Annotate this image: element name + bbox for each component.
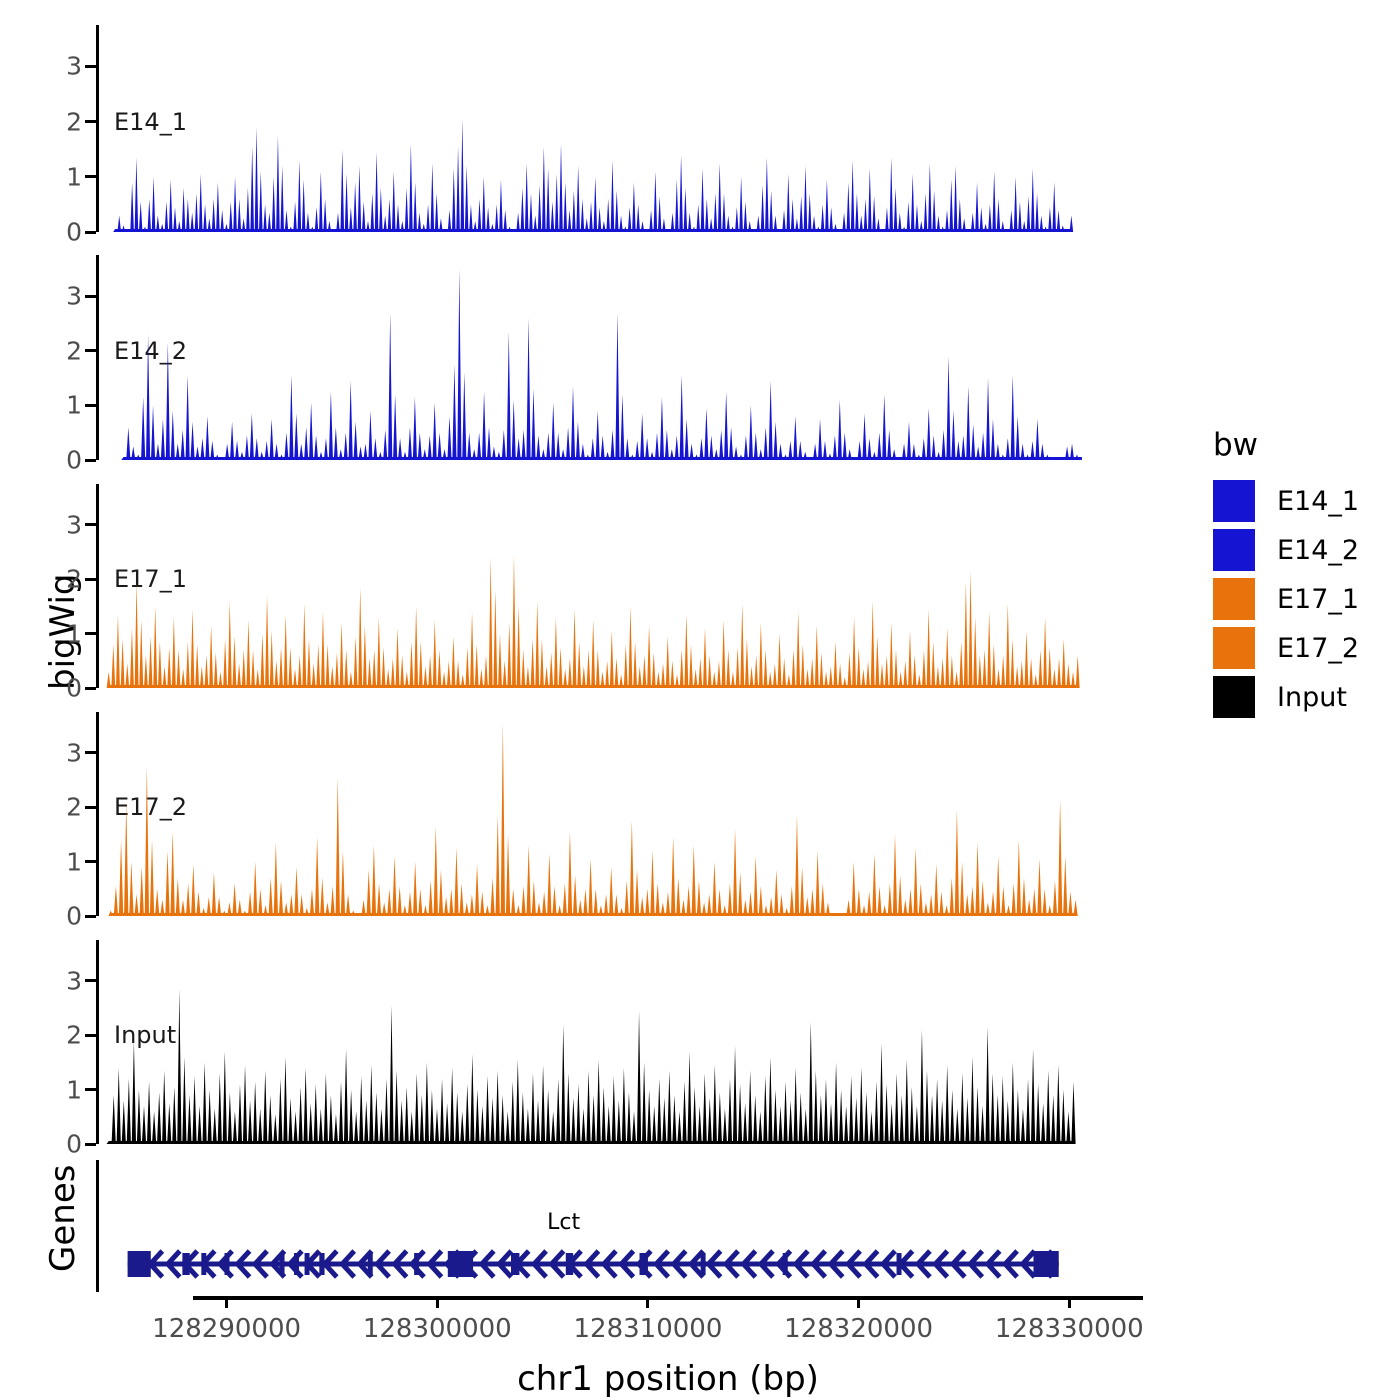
legend-swatch-e17_2 [1213,627,1255,669]
gene-exon [640,1253,648,1275]
x-tick-mark [646,1296,649,1308]
gene-exon [448,1251,473,1277]
legend-swatch-input [1213,676,1255,718]
legend-swatch-e17_1 [1213,578,1255,620]
legend-item-e17_1[interactable]: E17_1 [1213,578,1359,620]
gene-exon [279,1253,284,1275]
legend: bw E14_1E14_2E17_1E17_2Input [1205,430,1400,730]
legend-swatch-e14_1 [1213,480,1255,522]
x-tick-mark [436,1296,439,1308]
gene-exon [511,1253,519,1275]
x-axis-line [193,1296,1143,1300]
gene-model-lct [0,0,1400,1400]
x-tick-label: 128310000 [573,1316,722,1342]
gene-exon [414,1253,419,1275]
gene-exon [1033,1251,1058,1277]
legend-label: E14_2 [1277,537,1359,564]
x-tick-label: 128300000 [363,1316,512,1342]
legend-item-input[interactable]: Input [1213,676,1347,718]
genome-browser-figure: bigWig Genes 0123E14_10123E14_20123E17_1… [0,0,1400,1400]
gene-exon [305,1253,310,1275]
gene-exon [566,1253,573,1275]
gene-exon [319,1253,324,1275]
legend-label: Input [1277,684,1347,711]
gene-exon [783,1253,788,1275]
legend-label: E14_1 [1277,488,1359,515]
legend-item-e17_2[interactable]: E17_2 [1213,627,1359,669]
gene-exon [201,1253,206,1275]
legend-label: E17_1 [1277,586,1359,613]
legend-title: bw [1213,430,1258,461]
x-tick-label: 128320000 [784,1316,933,1342]
x-tick-mark [1068,1296,1071,1308]
legend-swatch-e14_2 [1213,529,1255,571]
legend-item-e14_2[interactable]: E14_2 [1213,529,1359,571]
gene-exon [368,1253,373,1275]
legend-item-e14_1[interactable]: E14_1 [1213,480,1359,522]
gene-exon [128,1251,151,1277]
gene-exon [225,1253,230,1275]
gene-exon [701,1253,706,1275]
legend-label: E17_2 [1277,635,1359,662]
gene-exon [897,1253,902,1275]
x-tick-mark [857,1296,860,1308]
x-tick-label: 128330000 [995,1316,1144,1342]
gene-exon [294,1253,299,1275]
x-tick-mark [225,1296,228,1308]
x-tick-label: 128290000 [152,1316,301,1342]
x-axis-title: chr1 position (bp) [517,1362,819,1396]
gene-exon [182,1253,189,1275]
